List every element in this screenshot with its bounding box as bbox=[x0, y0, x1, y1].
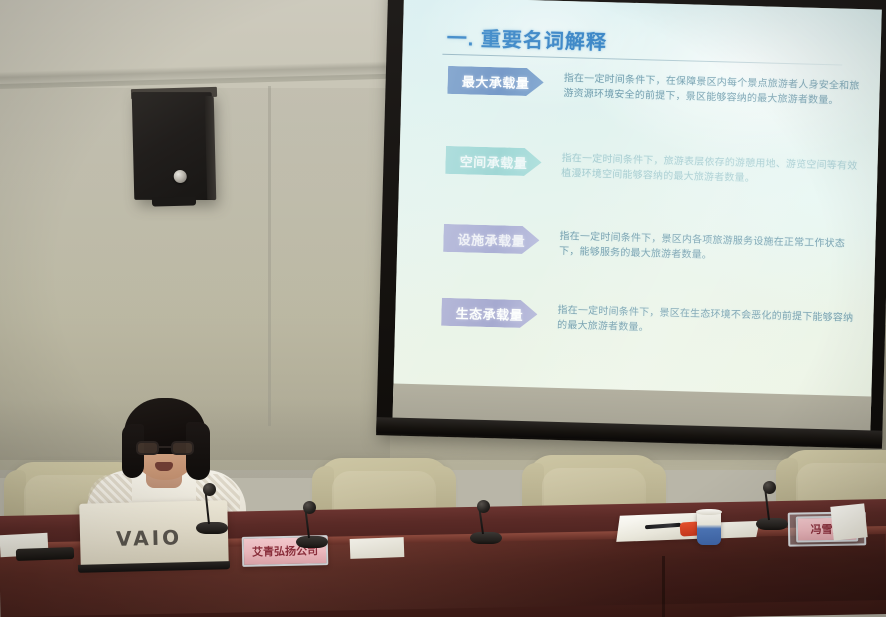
tissue-box bbox=[830, 503, 867, 540]
slide-row-4: 生态承载量 指在一定时间条件下，景区在生态环境不会恶化的前提下能够容纳的最大旅游… bbox=[396, 297, 874, 310]
paper-cup-rim bbox=[696, 509, 722, 515]
term-description-1: 指在一定时间条件下，在保障景区内每个景点旅游者人身安全和旅游资源环境安全的前提下… bbox=[563, 71, 860, 109]
term-banner-max-capacity: 最大承载量 bbox=[447, 66, 544, 97]
glasses-bridge bbox=[159, 446, 171, 448]
presenter-glasses bbox=[136, 441, 194, 455]
wall-vertical-seam bbox=[268, 86, 271, 426]
slide-title: 一. 重要名词解释 bbox=[447, 22, 608, 55]
screen-glare bbox=[393, 0, 882, 409]
term-banner-facility-capacity: 设施承载量 bbox=[443, 224, 540, 255]
paper-cup bbox=[697, 511, 721, 545]
conference-room-photo: 一. 重要名词解释 最大承载量 指在一定时间条件下，在保障景区内每个景点旅游者人… bbox=[0, 0, 886, 617]
microphone-head bbox=[763, 481, 776, 494]
microphone-base bbox=[196, 522, 228, 534]
speaker-knob bbox=[174, 170, 187, 183]
term-description-2: 指在一定时间条件下，旅游表层依存的游憩用地、游览空间等有效植漫环境空间能够容纳的… bbox=[561, 151, 858, 189]
term-label: 空间承载量 bbox=[460, 151, 528, 172]
term-label: 最大承载量 bbox=[462, 71, 530, 92]
microphone-base bbox=[470, 532, 502, 544]
title-underline bbox=[442, 54, 842, 66]
desk-object-left bbox=[16, 547, 74, 561]
slide-row-1: 最大承载量 指在一定时间条件下，在保障景区内每个景点旅游者人身安全和旅游资源环境… bbox=[402, 65, 880, 78]
term-banner-ecological-capacity: 生态承载量 bbox=[441, 298, 538, 329]
speaker-bottom bbox=[152, 196, 196, 206]
term-description-4: 指在一定时间条件下，景区在生态环境不会恶化的前提下能够容纳的最大旅游者数量。 bbox=[557, 303, 854, 341]
microphone-base bbox=[296, 536, 328, 548]
slide-row-3: 设施承载量 指在一定时间条件下，景区内各项旅游服务设施在正常工作状态下，能够服务… bbox=[398, 223, 876, 236]
term-banner-space-capacity: 空间承载量 bbox=[445, 146, 542, 177]
slide-row-2: 空间承载量 指在一定时间条件下，旅游表层依存的游憩用地、游览空间等有效植漫环境空… bbox=[400, 145, 878, 158]
laptop-brand-logo: VAIO bbox=[116, 525, 183, 551]
term-label: 设施承载量 bbox=[457, 229, 525, 250]
projection-screen: 一. 重要名词解释 最大承载量 指在一定时间条件下，在保障景区内每个景点旅游者人… bbox=[376, 0, 886, 457]
glasses-lens-left bbox=[136, 441, 159, 455]
term-label: 生态承载量 bbox=[455, 303, 523, 324]
term-description-3: 指在一定时间条件下，景区内各项旅游服务设施在正常工作状态下，能够服务的最大旅游者… bbox=[559, 229, 856, 267]
microphone-head bbox=[477, 500, 490, 513]
microphone-base bbox=[756, 518, 788, 530]
microphone-head bbox=[203, 483, 216, 496]
wall-speaker bbox=[132, 92, 215, 200]
screen-surface: 一. 重要名词解释 最大承载量 指在一定时间条件下，在保障景区内每个景点旅游者人… bbox=[393, 0, 882, 431]
microphone-head bbox=[303, 501, 316, 514]
glasses-lens-right bbox=[171, 441, 194, 455]
presentation-slide: 一. 重要名词解释 最大承载量 指在一定时间条件下，在保障景区内每个景点旅游者人… bbox=[393, 0, 882, 409]
document-center bbox=[350, 537, 405, 559]
presenter-mouth bbox=[155, 462, 173, 471]
